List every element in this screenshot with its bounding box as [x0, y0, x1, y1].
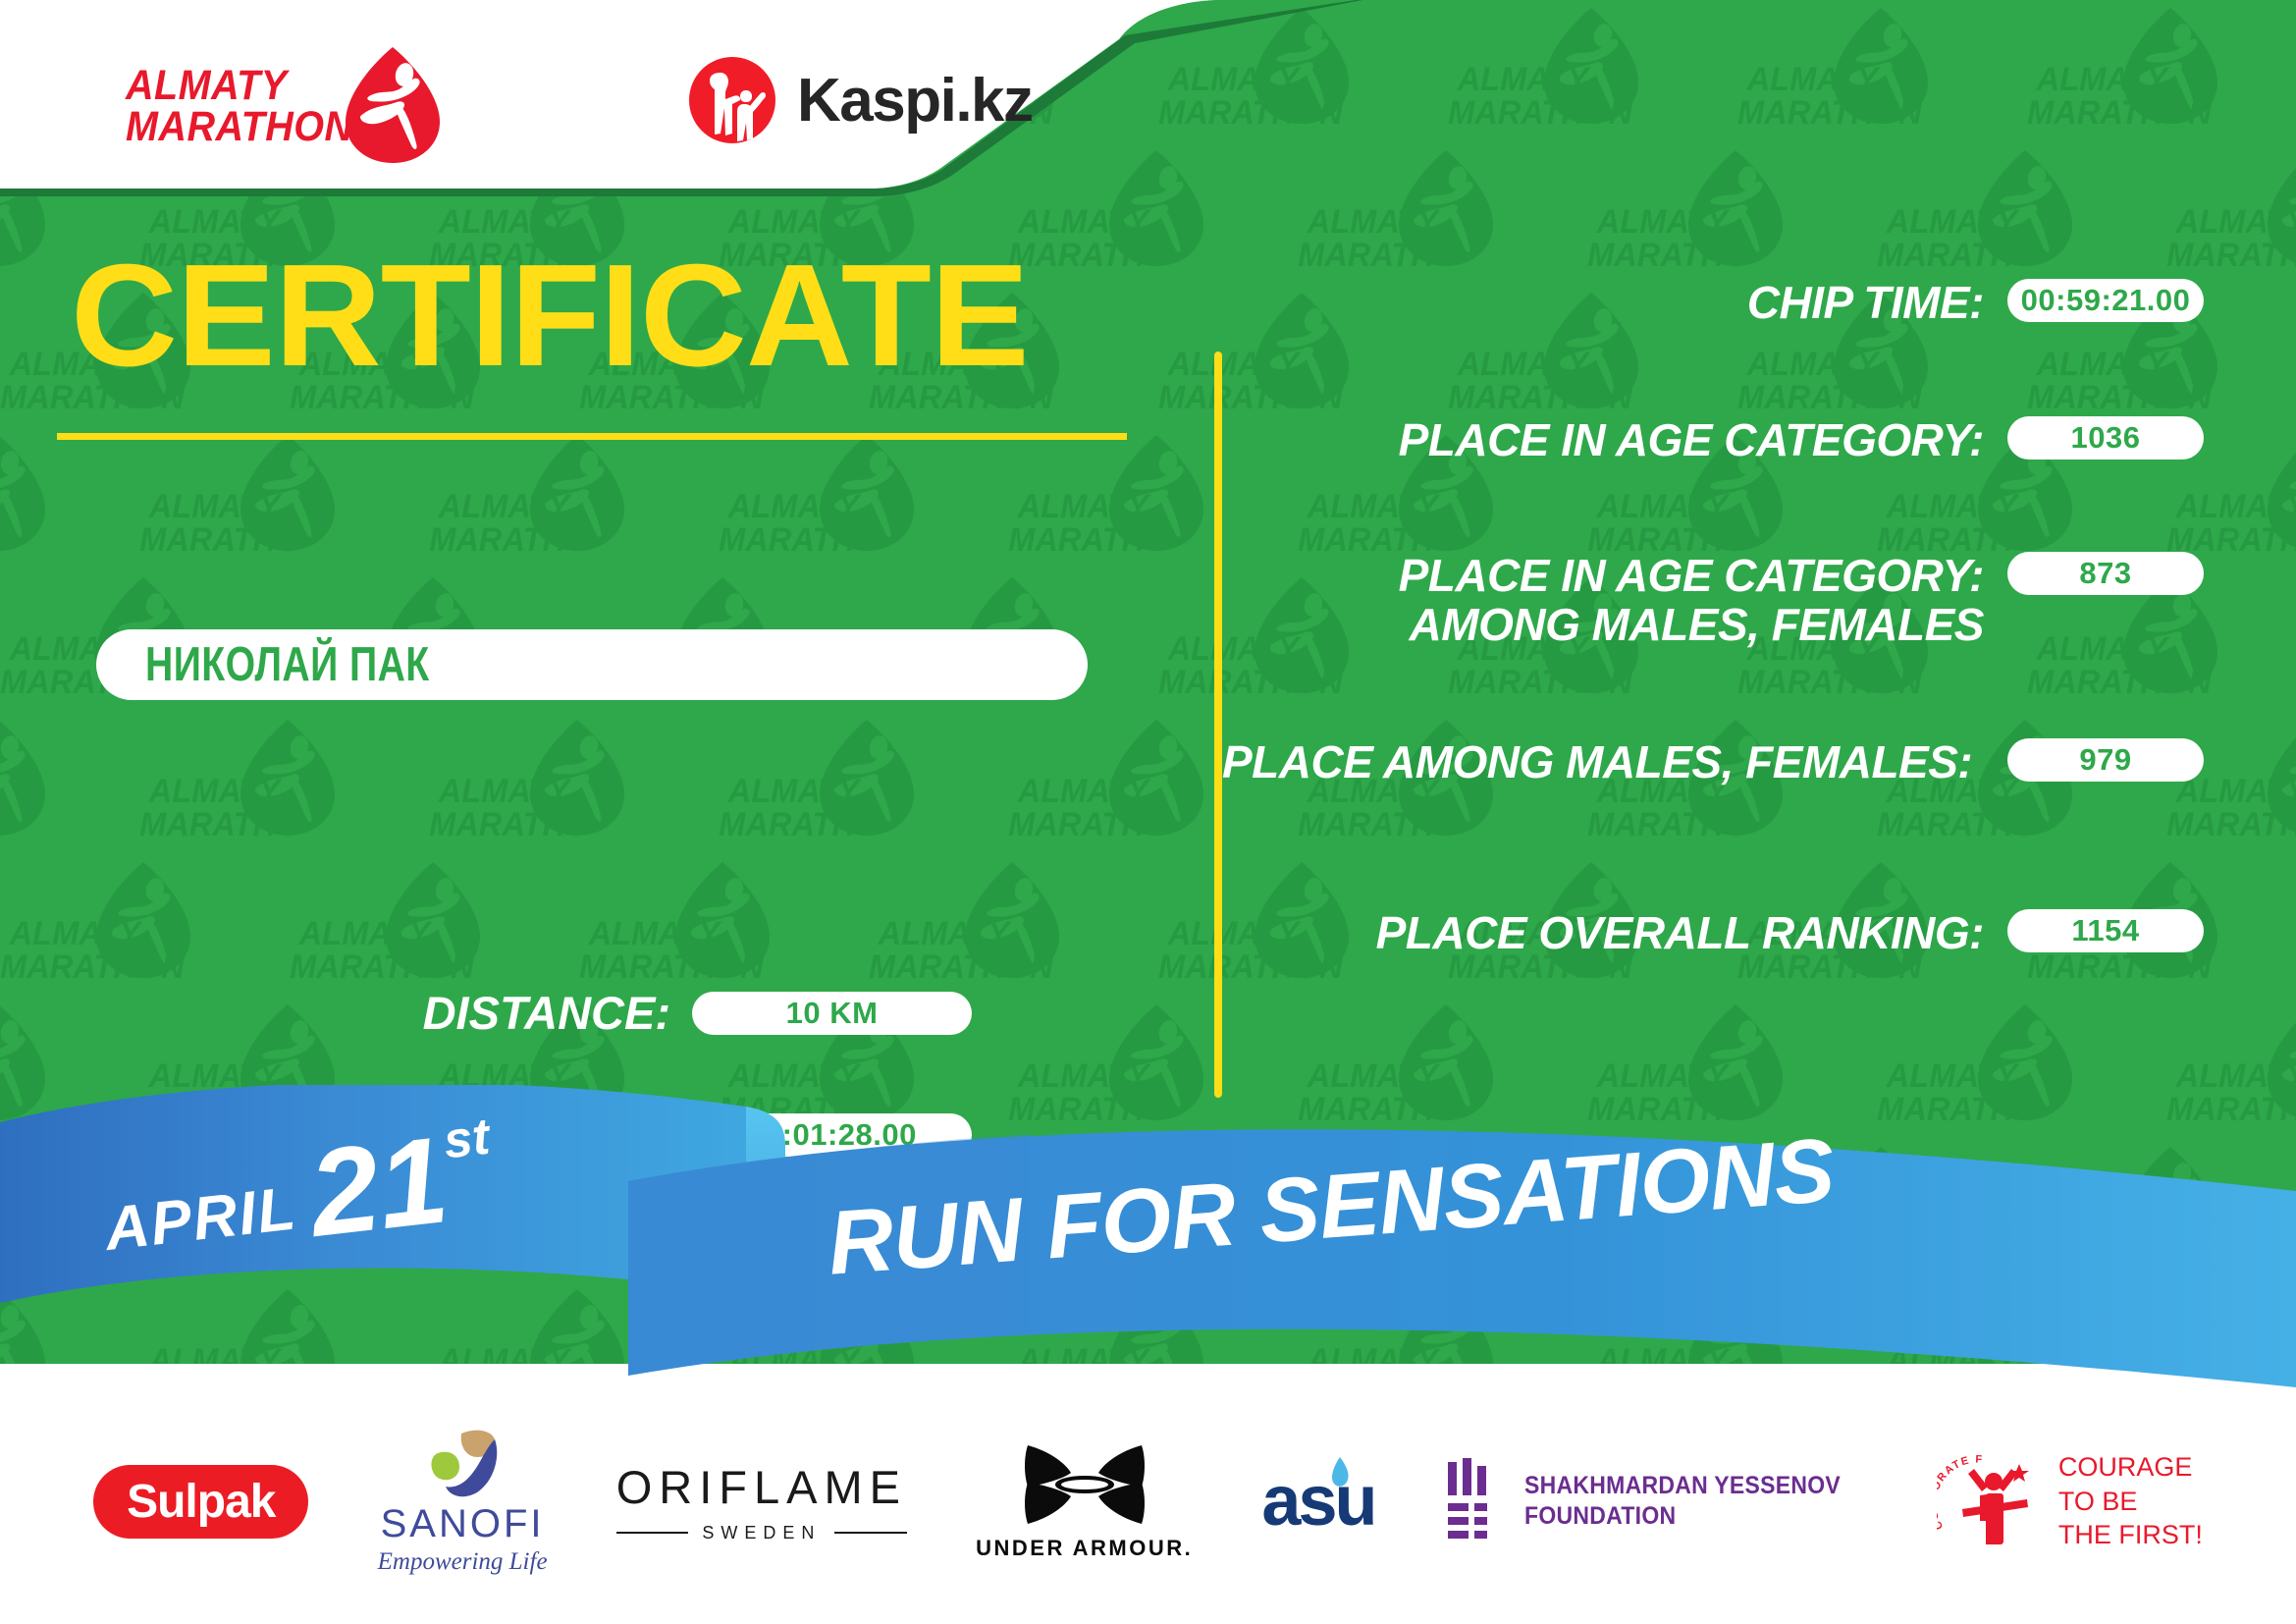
courage-fund-arc-text: CORPORATE FUND	[1937, 1452, 1984, 1532]
place-overall-ranking-value: 1154	[2007, 909, 2204, 952]
distance-value: 10 KM	[692, 992, 972, 1035]
asu-droplet-icon	[1326, 1455, 1352, 1490]
place-age-category-among-row: PLACE IN AGE CATEGORY: AMONG MALES, FEMA…	[1222, 552, 2204, 649]
place-age-category-value: 1036	[2007, 416, 2204, 460]
header-logos: ALMATY MARATHON Kaspi.kz	[0, 0, 1178, 187]
event-month: APRIL	[101, 1173, 300, 1265]
courage-fund-wordmark: COURAGE TO BE THE FIRST!	[2058, 1450, 2203, 1552]
chip-time-value: 00:59:21.00	[2007, 279, 2204, 322]
sanofi-wordmark: SANOFI	[381, 1502, 545, 1546]
under-armour-logo-icon	[1022, 1441, 1148, 1528]
almaty-marathon-wordmark: ALMATY MARATHON	[126, 65, 352, 147]
under-armour-wordmark: UNDER ARMOUR.	[976, 1536, 1193, 1561]
place-among-males-females-value: 979	[2007, 738, 2204, 782]
distance-label: DISTANCE:	[258, 986, 670, 1040]
certificate-canvas: ALMATY MARATHON Kaspi.kz C	[0, 0, 2296, 1624]
chip-time-row: CHIP TIME: 00:59:21.00	[1222, 279, 2204, 328]
courage-line1: COURAGE	[2058, 1450, 2203, 1485]
courage-line3: THE FIRST!	[2058, 1518, 2203, 1552]
kaspi-wordmark: Kaspi.kz	[797, 66, 1033, 135]
place-overall-ranking-row: PLACE OVERALL RANKING: 1154	[1222, 909, 2204, 958]
chip-time-label: CHIP TIME:	[1222, 279, 2007, 328]
sulpak-wordmark: Sulpak	[93, 1465, 308, 1539]
event-day: 21	[305, 1128, 453, 1247]
sanofi-mark-icon	[424, 1428, 501, 1500]
oriflame-rule-left	[616, 1532, 689, 1534]
kaspi-logo: Kaspi.kz	[687, 55, 1033, 145]
oriflame-rule-right	[834, 1532, 907, 1534]
oriflame-subline: SWEDEN	[616, 1523, 907, 1543]
yessenov-foundation-mark-icon	[1444, 1458, 1503, 1544]
courage-line2: TO BE	[2058, 1485, 2203, 1519]
yessenov-line2: FOUNDATION	[1524, 1501, 1841, 1532]
sponsor-courage-fund: CORPORATE FUND COURAGE TO BE THE FIRST!	[1937, 1450, 2203, 1552]
participant-name-value: НИКОЛАЙ ПАК	[145, 637, 430, 692]
asu-wordmark: asu	[1261, 1461, 1374, 1542]
sponsor-asu: asu	[1261, 1461, 1374, 1542]
certificate-title: CERTIFICATE	[71, 244, 1029, 389]
participant-name-field: НИКОЛАЙ ПАК	[96, 629, 1088, 700]
sanofi-tagline: Empowering Life	[378, 1548, 548, 1576]
sponsor-sanofi: SANOFI Empowering Life	[378, 1428, 548, 1576]
sponsor-oriflame: ORIFLAME SWEDEN	[616, 1460, 907, 1543]
event-day-ordinal: st	[441, 1108, 493, 1171]
svg-text:CORPORATE FUND: CORPORATE FUND	[1937, 1452, 1984, 1532]
place-age-category-among-label: PLACE IN AGE CATEGORY: AMONG MALES, FEMA…	[1222, 552, 2007, 649]
marathon-wordmark-line1: ALMATY	[126, 65, 352, 106]
place-among-males-females-row: PLACE AMONG MALES, FEMALES: 979	[1222, 738, 2204, 787]
marathon-wordmark-line2: MARATHON	[126, 106, 352, 147]
oriflame-sweden-text: SWEDEN	[702, 1523, 821, 1543]
title-underline-rule	[57, 433, 1127, 440]
place-among-males-females-label: PLACE AMONG MALES, FEMALES:	[1222, 738, 2007, 787]
kaspi-people-circle-icon	[687, 55, 777, 145]
sponsor-strip: Sulpak SANOFI Empowering Life ORIFLAME S…	[0, 1379, 2296, 1624]
column-divider	[1214, 352, 1222, 1098]
yessenov-line1: SHAKHMARDAN YESSENOV	[1524, 1471, 1841, 1501]
place-age-category-among-value: 873	[2007, 552, 2204, 595]
oriflame-wordmark: ORIFLAME	[616, 1460, 907, 1514]
left-column: CERTIFICATE НИКОЛАЙ ПАК DISTANCE: 10 KM …	[0, 192, 1217, 1135]
distance-row: DISTANCE: 10 KM	[0, 986, 972, 1040]
courage-fund-runner-icon: CORPORATE FUND	[1937, 1452, 2045, 1550]
place-age-category-label: PLACE IN AGE CATEGORY:	[1222, 416, 2007, 465]
sponsor-yessenov-foundation: SHAKHMARDAN YESSENOV FOUNDATION	[1444, 1458, 1868, 1544]
sponsor-under-armour: UNDER ARMOUR.	[976, 1441, 1193, 1561]
place-overall-ranking-label: PLACE OVERALL RANKING:	[1222, 909, 2007, 958]
almaty-marathon-logo: ALMATY MARATHON	[126, 47, 440, 165]
sponsor-sulpak: Sulpak	[93, 1465, 308, 1539]
almaty-marathon-runner-drop-icon	[344, 45, 442, 165]
place-age-category-row: PLACE IN AGE CATEGORY: 1036	[1222, 416, 2204, 465]
yessenov-foundation-wordmark: SHAKHMARDAN YESSENOV FOUNDATION	[1524, 1471, 1841, 1533]
right-column-stats: CHIP TIME: 00:59:21.00 PLACE IN AGE CATE…	[1222, 192, 2296, 1135]
